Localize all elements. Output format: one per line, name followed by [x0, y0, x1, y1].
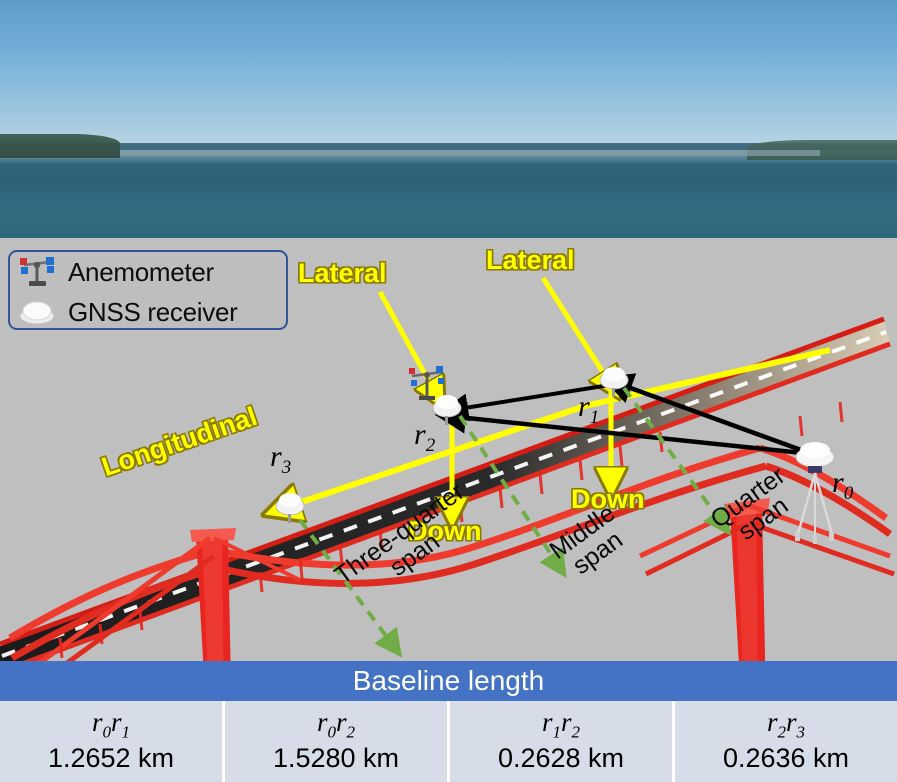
- label-lateral-right: Lateral: [486, 245, 575, 276]
- legend-item-anemometer: Anemometer: [10, 252, 286, 292]
- c1-b1: r: [317, 707, 328, 737]
- baseline-cell-r0r2: r0r2 1.5280 km: [225, 701, 450, 782]
- gnss-marker-r3: [276, 493, 304, 523]
- baseline-value-r2r3: 0.2636 km: [723, 743, 849, 774]
- c0-b1: r: [92, 707, 103, 737]
- c3-s1: 2: [778, 722, 787, 741]
- c1-s1: 0: [328, 722, 337, 741]
- legend-label-gnss: GNSS receiver: [68, 297, 237, 328]
- station-label-r0: r0: [832, 466, 853, 505]
- c0-b2: r: [111, 707, 122, 737]
- c2-b2: r: [561, 707, 572, 737]
- baseline-pair-r0r1: r0r1: [92, 709, 130, 740]
- station-label-r2: r2: [414, 418, 435, 457]
- r0-base: r: [832, 466, 844, 499]
- baseline-value-r1r2: 0.2628 km: [498, 743, 624, 774]
- gnss-marker-r2: [433, 395, 461, 425]
- table-header: Baseline length: [0, 661, 897, 701]
- baseline-value-r0r1: 1.2652 km: [48, 743, 174, 774]
- c2-s2: 2: [572, 722, 581, 741]
- c2-s1: 1: [553, 722, 562, 741]
- label-lateral-left: Lateral: [298, 258, 387, 289]
- baseline-pair-r1r2: r1r2: [542, 709, 580, 740]
- c3-b2: r: [786, 707, 797, 737]
- bridge-3d-diagram: Anemometer GNSS receiver Lateral Lateral…: [0, 238, 897, 661]
- r1-base: r: [578, 390, 590, 423]
- r3-base: r: [270, 440, 282, 473]
- c3-b1: r: [767, 707, 778, 737]
- station-label-r1: r1: [578, 390, 599, 429]
- baseline-length-table: Baseline length r0r1 1.2652 km r0r2 1.52…: [0, 661, 897, 782]
- distant-shoreline: [120, 150, 820, 156]
- legend-label-anemometer: Anemometer: [68, 257, 214, 288]
- bridge-photograph: [0, 0, 897, 238]
- sky: [0, 0, 897, 143]
- baseline-cell-r2r3: r2r3 0.2636 km: [675, 701, 897, 782]
- legend: Anemometer GNSS receiver: [8, 250, 288, 330]
- c3-s2: 3: [797, 722, 806, 741]
- baseline-pair-r2r3: r2r3: [767, 709, 805, 740]
- gnss-marker-r1: [600, 367, 628, 397]
- c0-s2: 1: [122, 722, 131, 741]
- c1-b2: r: [336, 707, 347, 737]
- figure-root: Anemometer GNSS receiver Lateral Lateral…: [0, 0, 897, 782]
- legend-item-gnss: GNSS receiver: [10, 292, 286, 332]
- r0-sub: 0: [844, 483, 854, 504]
- shore-left: [0, 134, 120, 158]
- c1-s2: 2: [347, 722, 356, 741]
- baseline-cell-r0r1: r0r1 1.2652 km: [0, 701, 225, 782]
- baseline-cell-r1r2: r1r2 0.2628 km: [450, 701, 675, 782]
- r2-sub: 2: [426, 435, 436, 456]
- gnss-receiver-icon: [16, 295, 58, 329]
- baseline-pair-r0r2: r0r2: [317, 709, 355, 740]
- c2-b1: r: [542, 707, 553, 737]
- anemometer-icon: [16, 255, 58, 289]
- table-row: r0r1 1.2652 km r0r2 1.5280 km r1r2 0.262…: [0, 701, 897, 782]
- baseline-value-r0r2: 1.5280 km: [273, 743, 399, 774]
- r3-sub: 3: [282, 457, 292, 478]
- r1-sub: 1: [590, 407, 600, 428]
- r2-base: r: [414, 418, 426, 451]
- c0-s1: 0: [103, 722, 112, 741]
- station-label-r3: r3: [270, 440, 291, 479]
